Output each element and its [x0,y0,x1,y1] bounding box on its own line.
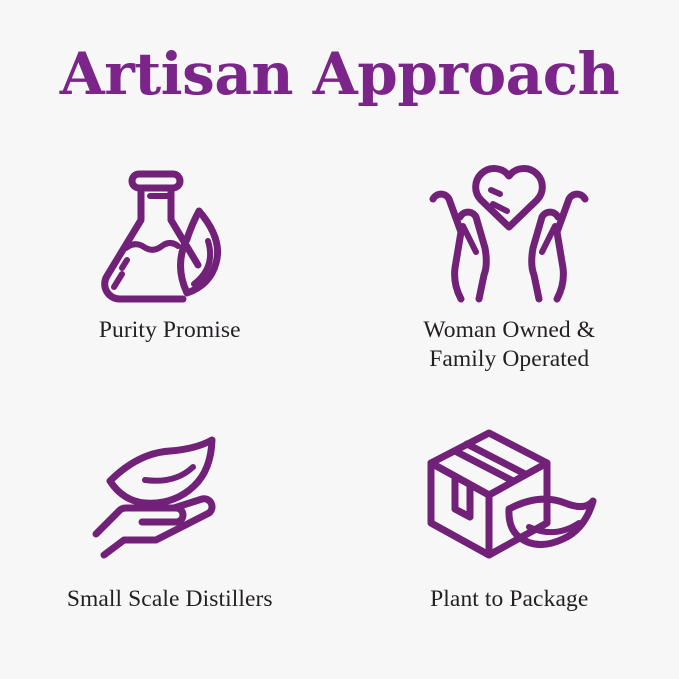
feature-label: Plant to Package [430,585,588,614]
feature-label: Small Scale Distillers [67,585,273,614]
feature-item-purity-promise: Purity Promise [0,150,340,400]
feature-label: Purity Promise [99,316,241,345]
hands-heart-icon [414,164,604,304]
artisan-approach-infographic: Artisan Approach [0,0,679,679]
flask-leaf-icon [75,164,265,304]
feature-item-plant-to-package: Plant to Package [340,400,679,650]
page-title: Artisan Approach [0,44,679,105]
box-leaf-icon [414,425,604,565]
feature-label: Woman Owned & Family Operated [423,316,595,373]
leaf-in-hand-icon [75,425,265,565]
feature-grid: Purity Promise [0,150,679,650]
feature-item-woman-owned: Woman Owned & Family Operated [340,150,679,400]
feature-item-small-scale-distillers: Small Scale Distillers [0,400,340,650]
